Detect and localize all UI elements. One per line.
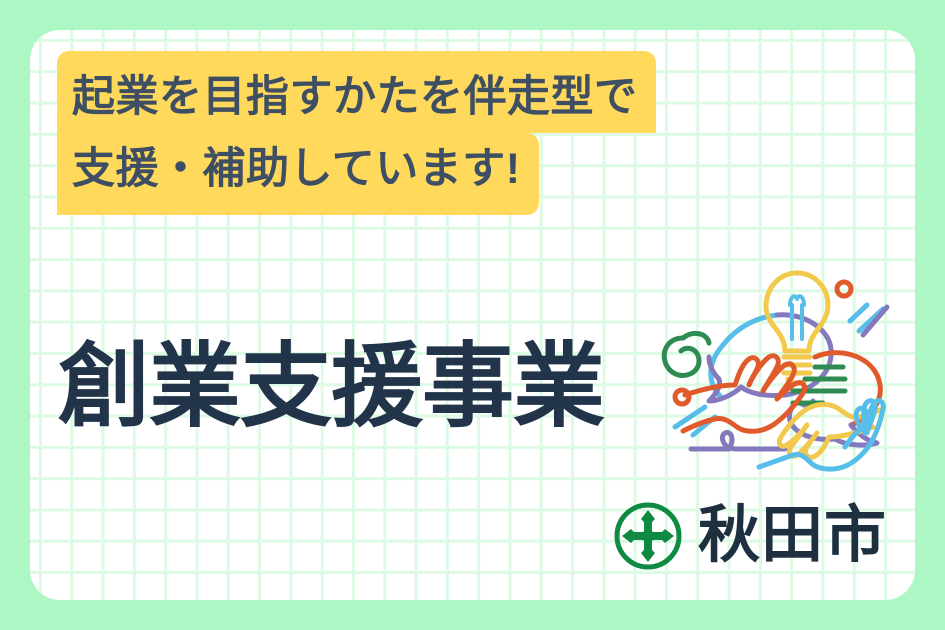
lead-copy-line-1: 起業を目指すかたを伴走型で: [57, 51, 656, 133]
hands-lightbulb-speech-bubbles-icon: [645, 245, 905, 480]
poster-root: { "page": { "background_color": "#ADF7C4…: [0, 0, 945, 630]
akita-city-logo: 秋田市: [612, 500, 887, 572]
akita-city-label: 秋田市: [698, 505, 887, 567]
akita-city-emblem-icon: [612, 500, 684, 572]
lead-copy-line-2: 支援・補助しています!: [57, 133, 539, 215]
page-title: 創業支援事業: [58, 330, 604, 445]
lead-copy: 起業を目指すかたを伴走型で 支援・補助しています!: [57, 51, 656, 215]
poster-card: 起業を目指すかたを伴走型で 支援・補助しています! 創業支援事業: [30, 30, 915, 600]
